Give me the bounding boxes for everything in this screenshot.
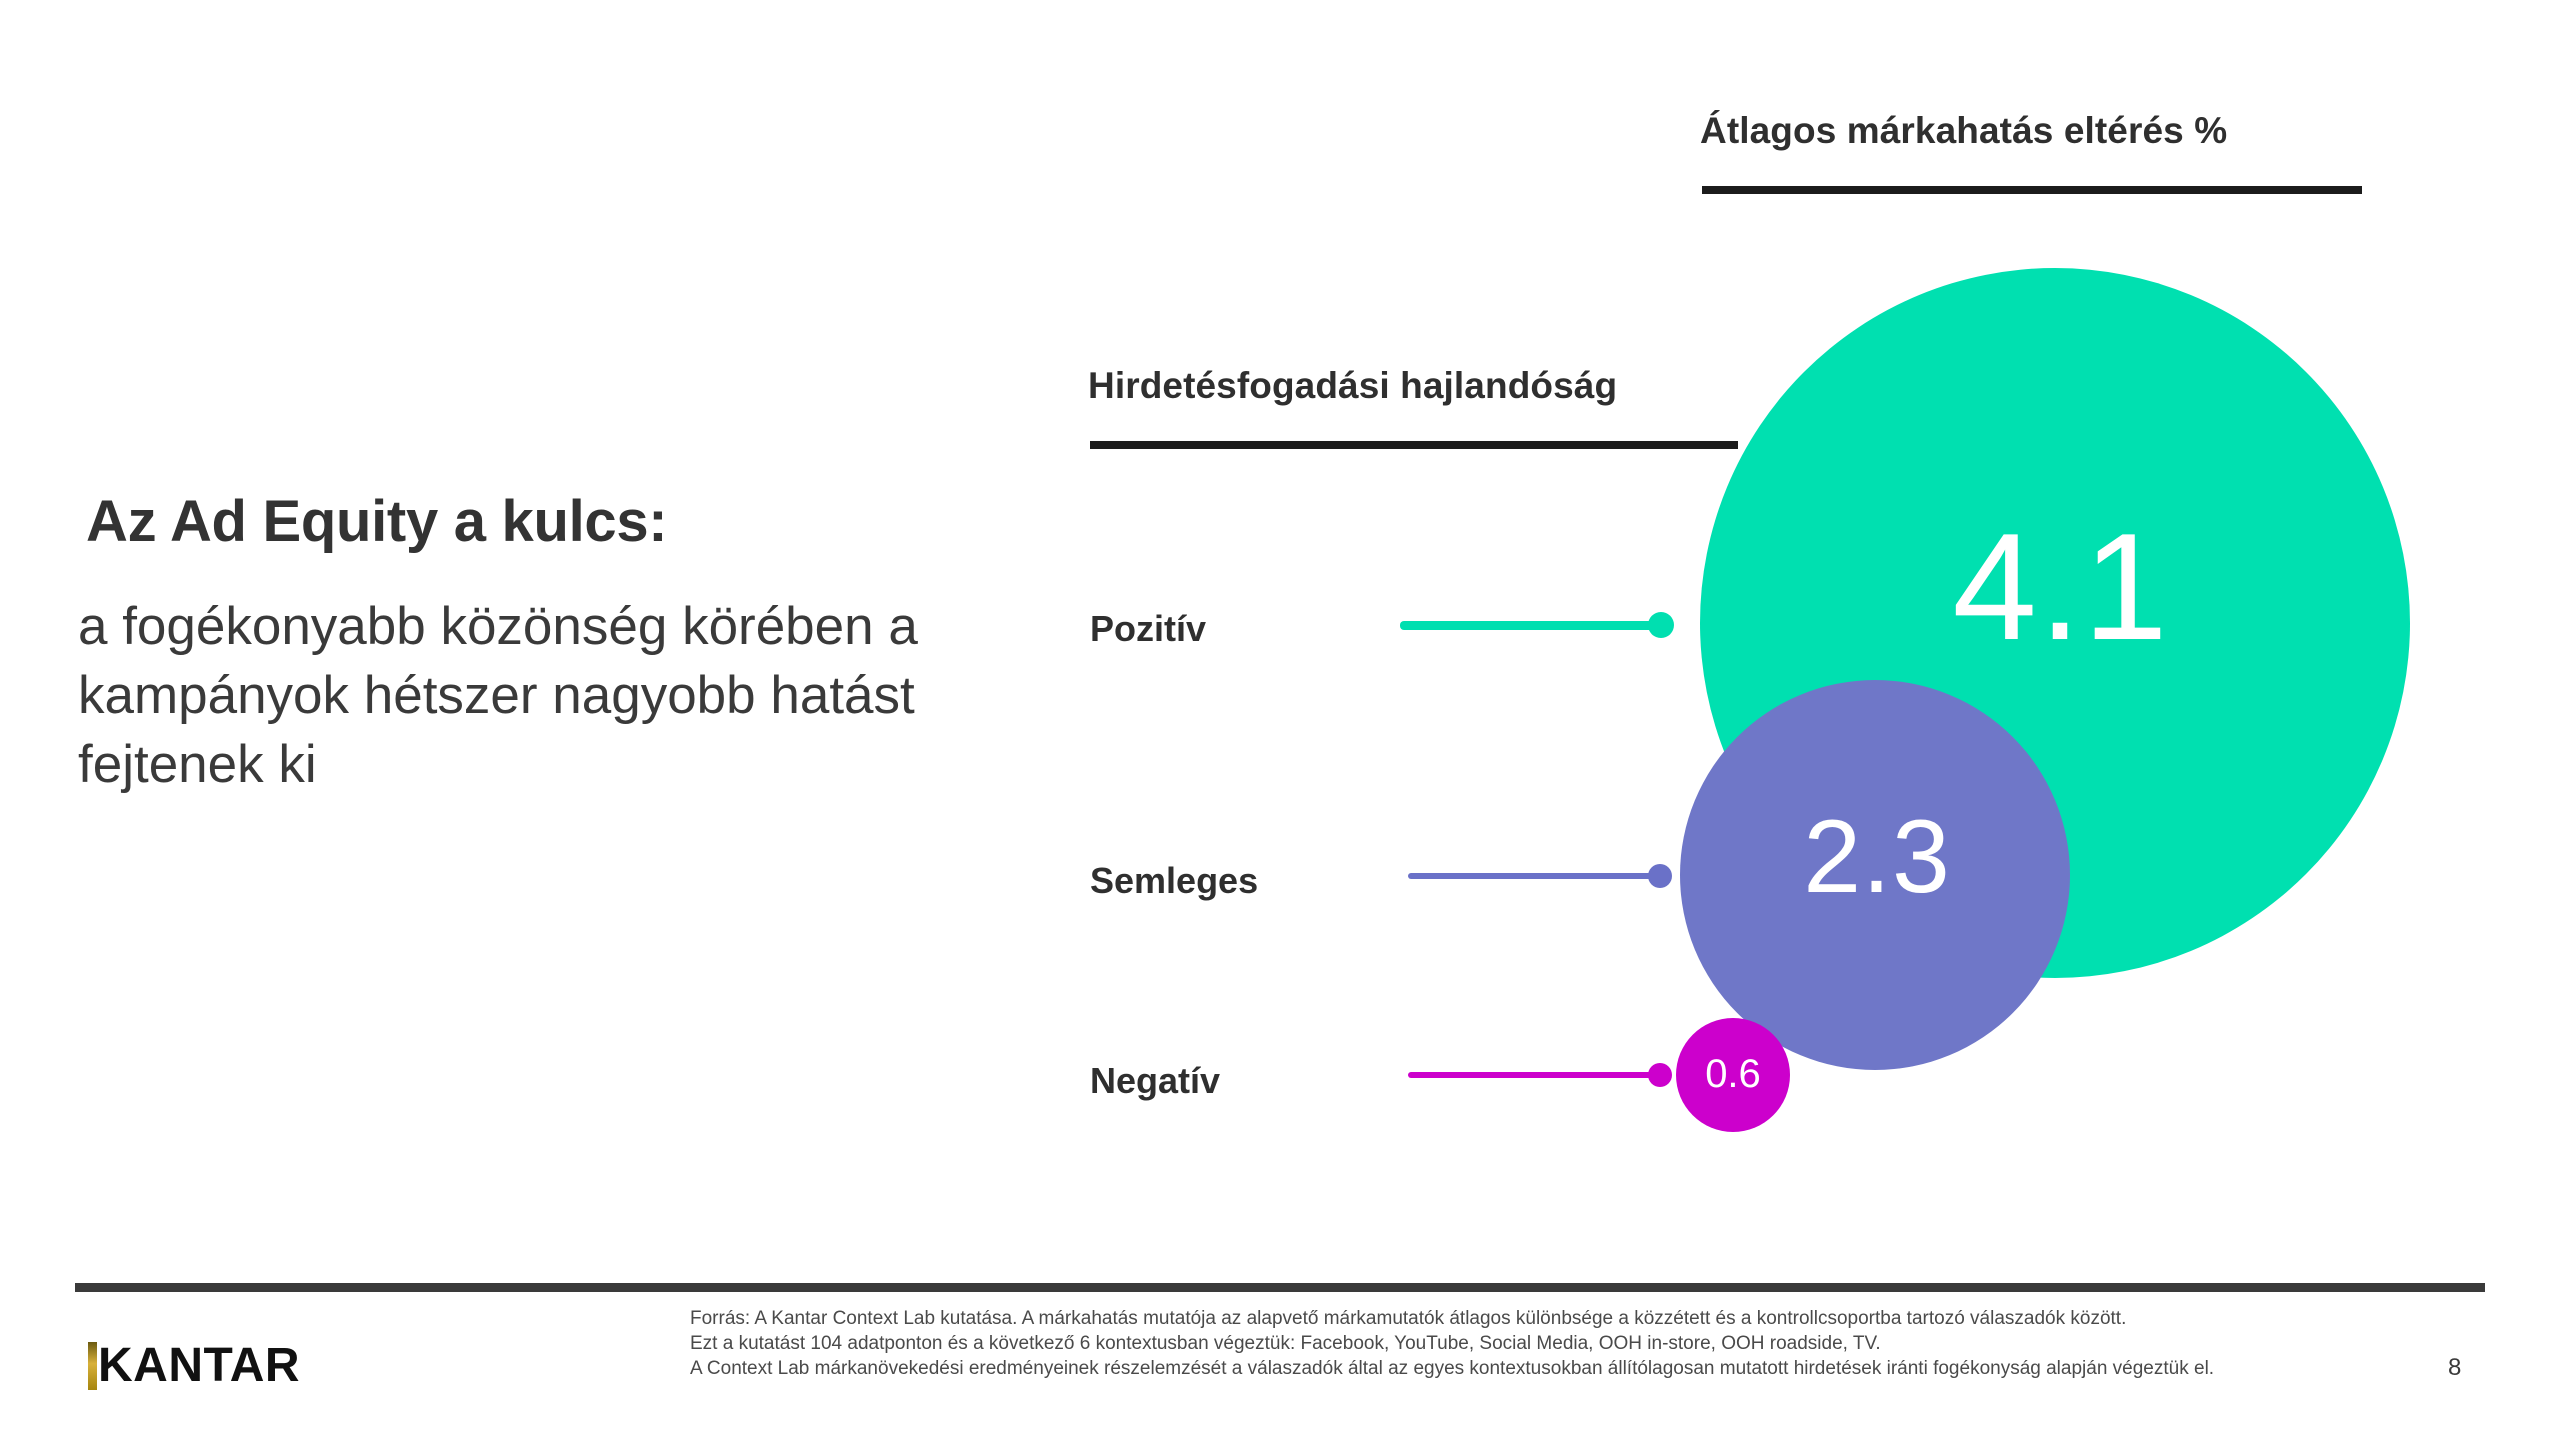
footnote-line-2: Ezt a kutatást 104 adatponton és a követ… [690,1331,2310,1356]
footnote-line-1: Forrás: A Kantar Context Lab kutatása. A… [690,1306,2310,1331]
bubble-value-negative: 0.6 [1705,1052,1761,1097]
connector-line-negative [1408,1072,1662,1078]
left-copy-block: Az Ad Equity a kulcs: a fogékonyabb közö… [78,490,958,800]
chart-subtitle-rule [1090,441,1738,449]
connector-dot-neutral [1648,864,1672,888]
footer-divider [75,1283,2485,1292]
page-number: 8 [2448,1354,2461,1382]
kantar-logo: KANTAR [88,1342,300,1390]
bubble-value-positive: 4.1 [1952,500,2169,675]
category-label-neutral: Semleges [1090,860,1258,902]
connector-dot-negative [1648,1063,1672,1087]
bubble-value-neutral: 2.3 [1803,798,1951,917]
footnote: Forrás: A Kantar Context Lab kutatása. A… [690,1306,2310,1381]
connector-dot-positive [1648,612,1674,638]
chart-subtitle: Hirdetésfogadási hajlandóság [1088,365,1617,407]
logo-accent-bar-icon [88,1342,97,1390]
slide: Az Ad Equity a kulcs: a fogékonyabb közö… [0,0,2560,1440]
chart-title: Átlagos márkahatás eltérés % [1700,110,2227,152]
page-title: Az Ad Equity a kulcs: [78,490,958,555]
bubble-negative: 0.6 [1676,1018,1790,1132]
category-label-positive: Pozitív [1090,608,1206,650]
body-text: a fogékonyabb közönség körében a kampány… [78,593,958,800]
chart-title-rule [1702,186,2362,194]
logo-text: KANTAR [98,1342,300,1390]
bubble-neutral: 2.3 [1680,680,2070,1070]
connector-line-neutral [1408,873,1662,879]
connector-line-positive [1400,621,1662,630]
footnote-line-3: A Context Lab márkanövekedési eredményei… [690,1356,2310,1381]
category-label-negative: Negatív [1090,1060,1220,1102]
